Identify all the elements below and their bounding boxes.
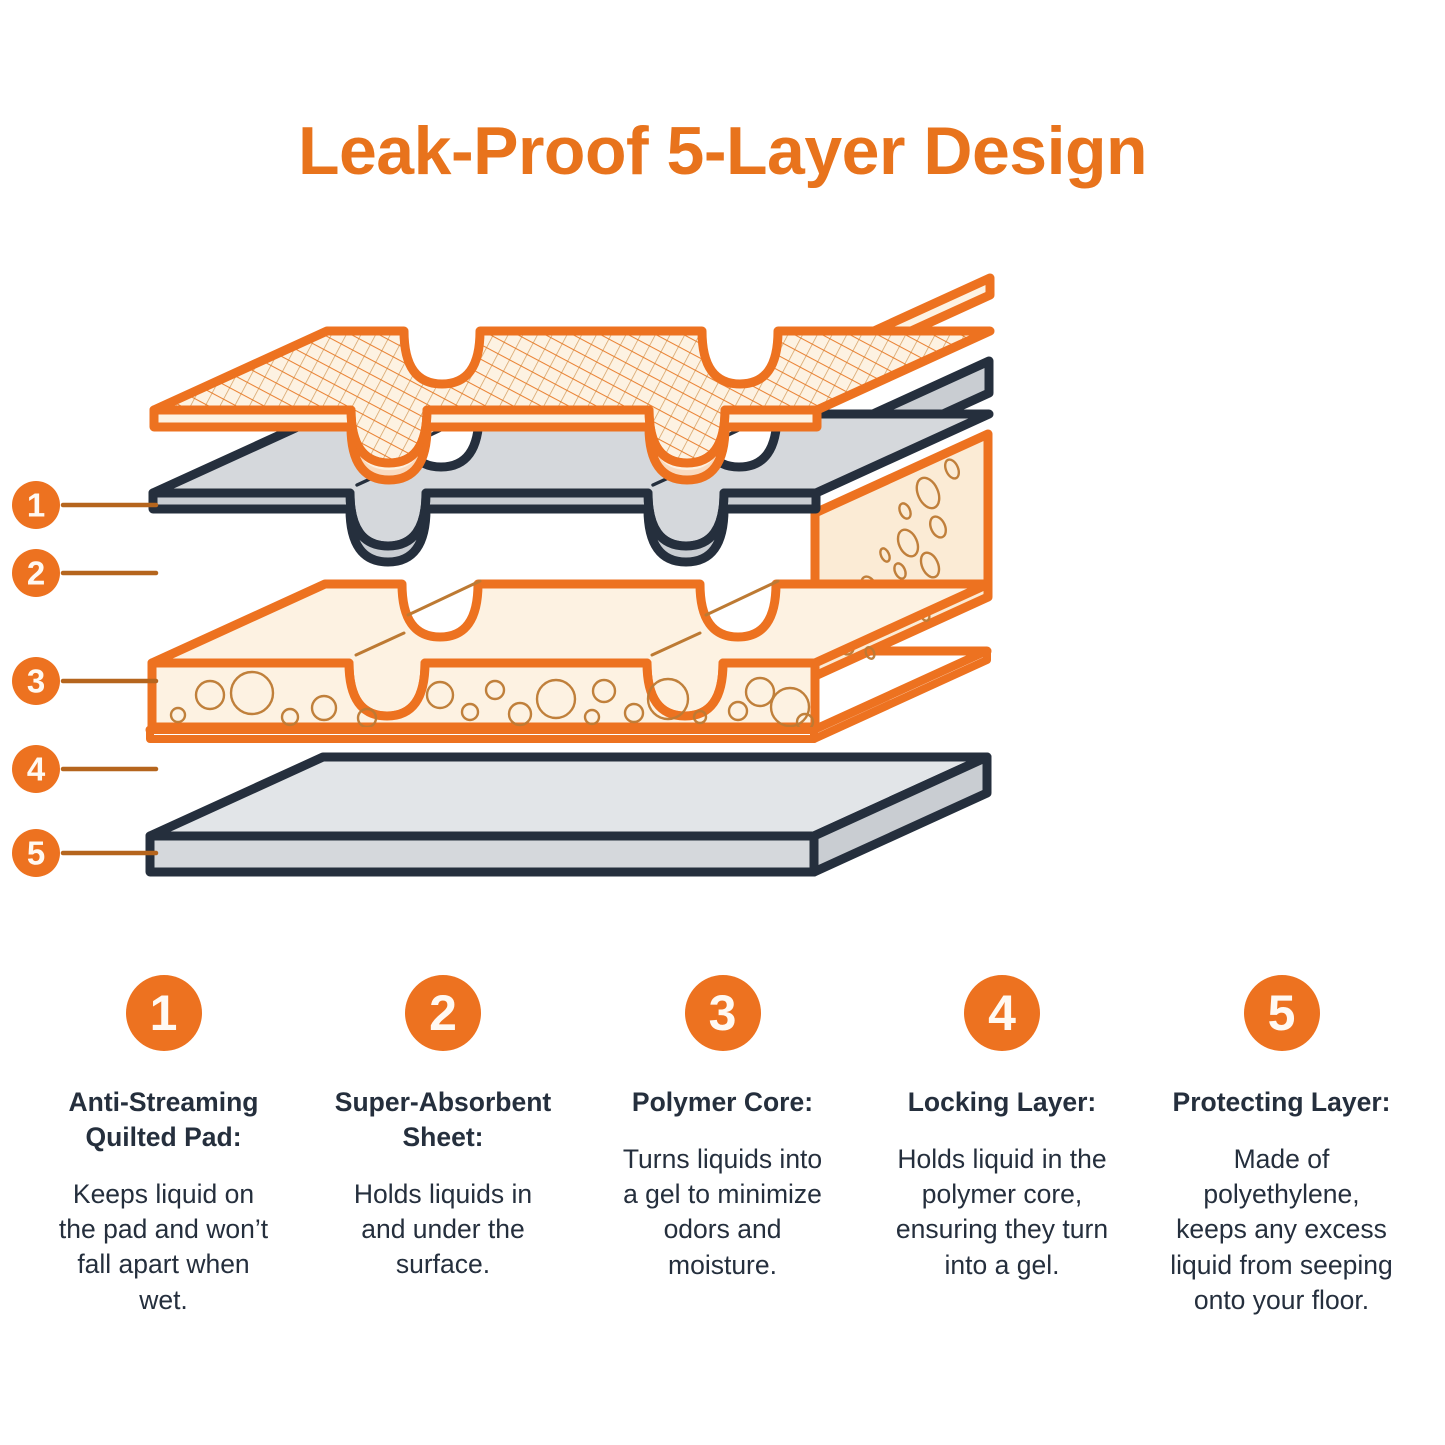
layer-diagram-container: 1 2 3 4 5 (0, 265, 1445, 905)
legend-badge-2: 2 (405, 975, 481, 1051)
exploded-layer-diagram: 1 2 3 4 5 (0, 265, 1445, 905)
legend-title-1: Anti-Streaming Quilted Pad: (56, 1085, 271, 1155)
legend-desc-5: Made of polyethylene, keeps any excess l… (1166, 1142, 1398, 1318)
callout-bullet-3[interactable]: 3 (12, 657, 60, 705)
legend-badge-1: 1 (126, 975, 202, 1051)
diagram-callouts: 1 2 3 4 5 (12, 481, 156, 877)
page-title: Leak-Proof 5-Layer Design (0, 112, 1445, 190)
infographic-page: Leak-Proof 5-Layer Design (0, 0, 1445, 1445)
callout-bullet-4[interactable]: 4 (12, 745, 60, 793)
legend-desc-3: Turns liquids into a gel to minimize odo… (620, 1142, 825, 1283)
legend-item-4: 4 Locking Layer: Holds liquid in the pol… (869, 975, 1136, 1283)
legend-item-3: 3 Polymer Core: Turns liquids into a gel… (589, 975, 856, 1283)
callout-bullet-5[interactable]: 5 (12, 829, 60, 877)
callout-bullet-5-label: 5 (27, 835, 45, 872)
legend-item-1: 1 Anti-Streaming Quilted Pad: Keeps liqu… (30, 975, 297, 1318)
callout-bullet-1-label: 1 (27, 487, 45, 524)
callout-bullet-1[interactable]: 1 (12, 481, 60, 529)
legend-badge-5: 5 (1244, 975, 1320, 1051)
callout-bullet-2-label: 2 (27, 555, 45, 592)
callout-bullet-3-label: 3 (27, 663, 45, 700)
legend-badge-3: 3 (685, 975, 761, 1051)
legend-title-5: Protecting Layer: (1173, 1085, 1391, 1120)
legend-desc-2: Holds liquids in and under the surface. (329, 1177, 557, 1283)
legend-item-5: 5 Protecting Layer: Made of polyethylene… (1148, 975, 1415, 1318)
diagram-layer-5-protecting-layer (150, 757, 987, 872)
legend-title-4: Locking Layer: (908, 1085, 1097, 1120)
legend-badge-4: 4 (964, 975, 1040, 1051)
legend-row: 1 Anti-Streaming Quilted Pad: Keeps liqu… (30, 975, 1415, 1318)
legend-desc-1: Keeps liquid on the pad and won’t fall a… (56, 1177, 271, 1318)
legend-desc-4: Holds liquid in the polymer core, ensuri… (893, 1142, 1111, 1283)
legend-title-2: Super-Absorbent Sheet: (329, 1085, 557, 1155)
legend-title-3: Polymer Core: (632, 1085, 813, 1120)
callout-bullet-4-label: 4 (27, 751, 46, 788)
callout-bullet-2[interactable]: 2 (12, 549, 60, 597)
callout-leader-lines (63, 505, 156, 853)
legend-item-2: 2 Super-Absorbent Sheet: Holds liquids i… (310, 975, 577, 1283)
